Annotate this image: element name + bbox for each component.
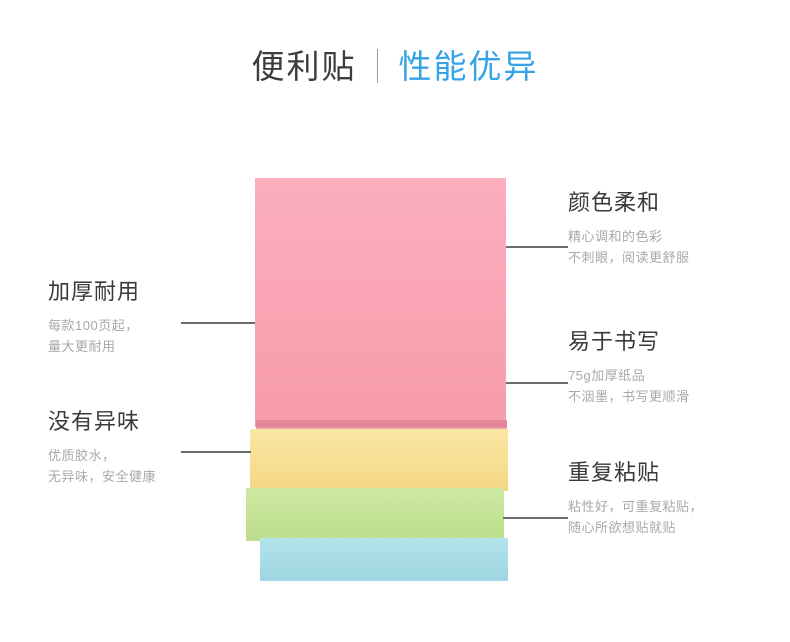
callout-color-soft: 颜色柔和 精心调和的色彩 不刺眼，阅读更舒服	[568, 188, 690, 268]
page-title-accent: 性能优异	[398, 48, 538, 85]
leader-line-easy-write	[506, 382, 568, 384]
callout-restick: 重复粘贴 粘性好，可重复粘贴， 随心所欲想贴就贴	[568, 458, 703, 538]
callout-restick-line1: 粘性好，可重复粘贴，	[568, 496, 703, 517]
callout-thick-durable: 加厚耐用 每款100页起， 量大更耐用	[48, 277, 140, 357]
pink-sticky-note	[255, 178, 506, 427]
callout-restick-line2: 随心所欲想贴就贴	[568, 517, 703, 538]
callout-easy-write-line1: 75g加厚纸品	[568, 365, 690, 386]
callout-thick-durable-title: 加厚耐用	[48, 277, 140, 307]
callout-no-odor-title: 没有异味	[48, 407, 156, 437]
green-sticky-note	[246, 488, 504, 541]
leader-line-restick	[503, 517, 568, 519]
callout-restick-title: 重复粘贴	[568, 458, 703, 488]
yellow-sticky-note	[250, 429, 508, 491]
leader-line-color-soft	[506, 246, 568, 248]
callout-easy-write-line2: 不洇墨，书写更顺滑	[568, 386, 690, 407]
callout-no-odor-line1: 优质胶水，	[48, 445, 156, 466]
product-feature-infographic: 便利贴 性能优异 颜色柔和 精心调和的色彩 不刺眼，阅读更舒服 易于书写 75g…	[0, 0, 790, 642]
callout-thick-durable-line2: 量大更耐用	[48, 336, 140, 357]
page-title-main: 便利贴	[252, 48, 357, 85]
callout-no-odor: 没有异味 优质胶水， 无异味，安全健康	[48, 407, 156, 487]
callout-color-soft-line2: 不刺眼，阅读更舒服	[568, 247, 690, 268]
leader-line-no-odor	[181, 451, 251, 453]
callout-thick-durable-line1: 每款100页起，	[48, 315, 140, 336]
callout-easy-write: 易于书写 75g加厚纸品 不洇墨，书写更顺滑	[568, 327, 690, 407]
callout-easy-write-title: 易于书写	[568, 327, 690, 357]
callout-color-soft-title: 颜色柔和	[568, 188, 690, 218]
callout-color-soft-line1: 精心调和的色彩	[568, 226, 690, 247]
blue-sticky-note	[260, 538, 508, 581]
page-title: 便利贴 性能优异	[0, 40, 790, 88]
pink-stack-edge	[256, 420, 507, 429]
leader-line-thick-durable	[181, 322, 255, 324]
callout-no-odor-line2: 无异味，安全健康	[48, 466, 156, 487]
title-divider	[377, 49, 378, 83]
